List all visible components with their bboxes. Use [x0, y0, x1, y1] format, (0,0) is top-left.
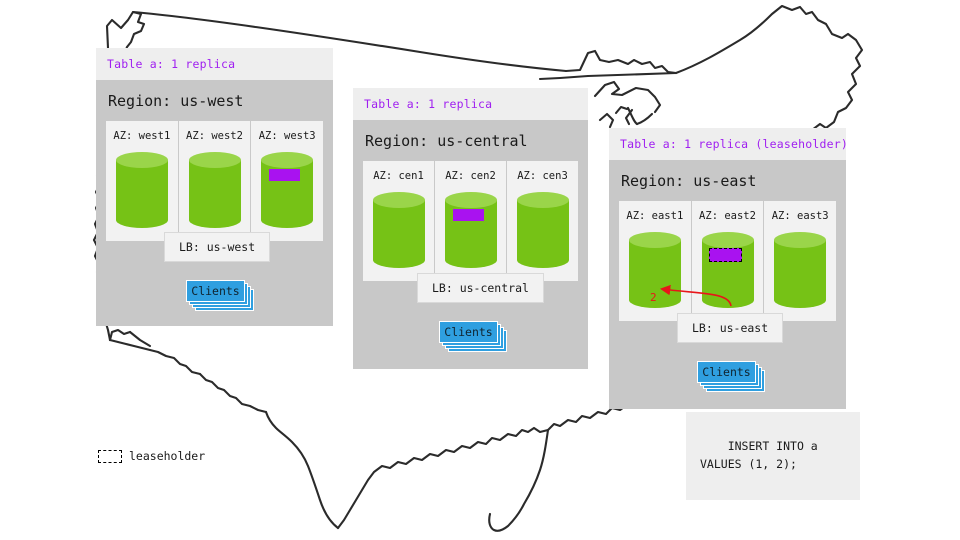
cylinder-top [445, 192, 497, 208]
cylinder-top [517, 192, 569, 208]
region-label-us-central: Region: us-central [363, 120, 578, 161]
cylinder-top [261, 152, 313, 168]
clients-stack-us-central[interactable]: Clients [439, 321, 507, 353]
lb-label-us-east: LB: us-east [692, 321, 768, 335]
az-row-us-central: AZ: cen1 AZ: cen2 [363, 161, 578, 281]
az-label-west3: AZ: west3 [251, 130, 323, 142]
cylinder-top [702, 232, 754, 248]
az-label-cen1: AZ: cen1 [363, 170, 434, 182]
az-cell-cen1[interactable]: AZ: cen1 [363, 161, 434, 281]
az-label-cen3: AZ: cen3 [507, 170, 578, 182]
clients-button-us-central[interactable]: Clients [439, 321, 498, 343]
region-panel-us-central: Table a: 1 replica Region: us-central AZ… [353, 88, 588, 369]
az-cell-east3[interactable]: AZ: east3 [763, 201, 836, 321]
node-cylinder-east2[interactable] [702, 232, 754, 308]
clients-label-us-central: Clients [444, 325, 492, 339]
az-label-cen2: AZ: cen2 [435, 170, 506, 182]
cylinder-top [189, 152, 241, 168]
node-cylinder-cen2[interactable] [445, 192, 497, 268]
replica-marker-west3[interactable] [269, 169, 300, 181]
az-label-east1: AZ: east1 [619, 210, 691, 222]
clients-label-us-east: Clients [702, 365, 750, 379]
node-cylinder-west3[interactable] [261, 152, 313, 228]
cylinder-body [517, 200, 569, 260]
region-panel-us-west: Table a: 1 replica Region: us-west AZ: w… [96, 48, 333, 326]
node-cylinder-west2[interactable] [189, 152, 241, 228]
panel-title-us-east: Table a: 1 replica (leaseholder) [609, 128, 846, 160]
clients-button-us-east[interactable]: Clients [697, 361, 756, 383]
lb-label-us-west: LB: us-west [179, 240, 255, 254]
node-cylinder-cen1[interactable] [373, 192, 425, 268]
panel-title-us-west: Table a: 1 replica [96, 48, 333, 80]
load-balancer-us-central[interactable]: LB: us-central [417, 273, 544, 303]
node-cylinder-cen3[interactable] [517, 192, 569, 268]
cylinder-top [373, 192, 425, 208]
az-cell-east2[interactable]: AZ: east2 [691, 201, 764, 321]
load-balancer-us-west[interactable]: LB: us-west [164, 232, 270, 262]
load-balancer-us-east[interactable]: LB: us-east [677, 313, 783, 343]
sql-statement-text: INSERT INTO a VALUES (1, 2); [700, 439, 818, 470]
cylinder-body [373, 200, 425, 260]
legend-label: leaseholder [129, 449, 205, 463]
lb-label-us-central: LB: us-central [432, 281, 529, 295]
region-label-us-west: Region: us-west [106, 80, 323, 121]
clients-stack-us-west[interactable]: Clients [186, 280, 254, 312]
node-cylinder-east3[interactable] [774, 232, 826, 308]
az-label-west1: AZ: west1 [106, 130, 178, 142]
clients-button-us-west[interactable]: Clients [186, 280, 245, 302]
az-cell-cen3[interactable]: AZ: cen3 [506, 161, 578, 281]
az-row-us-west: AZ: west1 AZ: west2 [106, 121, 323, 241]
az-cell-west3[interactable]: AZ: west3 [250, 121, 323, 241]
legend-leaseholder: leaseholder [98, 449, 205, 463]
region-panel-us-east: Table a: 1 replica (leaseholder) Region:… [609, 128, 846, 409]
replica-marker-cen2[interactable] [453, 209, 484, 221]
cylinder-body [116, 160, 168, 220]
cylinder-body [189, 160, 241, 220]
node-cylinder-west1[interactable] [116, 152, 168, 228]
az-cell-west1[interactable]: AZ: west1 [106, 121, 178, 241]
az-label-west2: AZ: west2 [179, 130, 251, 142]
cylinder-top [629, 232, 681, 248]
panel-title-us-central: Table a: 1 replica [353, 88, 588, 120]
cylinder-top [774, 232, 826, 248]
region-label-us-east: Region: us-east [619, 160, 836, 201]
az-cell-cen2[interactable]: AZ: cen2 [434, 161, 506, 281]
cylinder-body [774, 240, 826, 300]
clients-label-us-west: Clients [191, 284, 239, 298]
az-cell-west2[interactable]: AZ: west2 [178, 121, 251, 241]
leaseholder-swatch-icon [98, 450, 122, 463]
cylinder-top [116, 152, 168, 168]
clients-stack-us-east[interactable]: Clients [697, 361, 765, 393]
arrow-step-label-2: 2 [650, 291, 657, 304]
leaseholder-replica-marker-east2[interactable] [709, 248, 742, 262]
sql-statement-box: INSERT INTO a VALUES (1, 2); [686, 412, 860, 500]
az-label-east2: AZ: east2 [692, 210, 764, 222]
az-label-east3: AZ: east3 [764, 210, 836, 222]
